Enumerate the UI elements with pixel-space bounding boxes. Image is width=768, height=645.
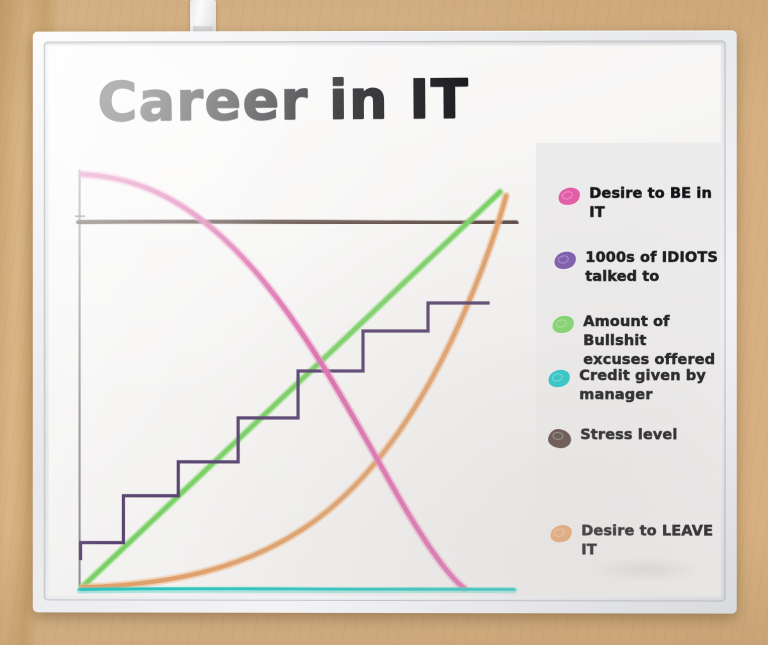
pink-dot-icon: [556, 185, 582, 207]
series-credit-given: [80, 588, 515, 591]
legend-label: 1000s of IDIOTS talked to: [585, 249, 718, 287]
brown-dot-icon: [547, 428, 572, 449]
legend-label: Desire to LEAVE IT: [581, 522, 720, 560]
purple-dot-icon: [552, 249, 578, 271]
whiteboard-frame: Career in IT: [33, 30, 737, 613]
legend-label: Stress level: [580, 426, 677, 445]
whiteboard-surface: Career in IT: [49, 45, 721, 596]
orange-dot-icon: [548, 523, 574, 545]
cyan-dot-icon: [546, 367, 572, 389]
series-desire-to-be: [82, 174, 464, 588]
green-dot-icon: [550, 313, 576, 335]
legend-label: Credit given by manager: [579, 367, 706, 405]
legend-label: Desire to BE in IT: [589, 185, 720, 223]
legend-item-desire-to-be[interactable]: Desire to BE in IT: [558, 185, 721, 223]
legend-item-bullshit-excuses[interactable]: Amount of Bullshit excuses offered: [552, 313, 721, 370]
screenshot-root: Career in IT: [0, 0, 768, 645]
series-idiots-talked-to: [81, 303, 488, 559]
series-bullshit-excuses: [82, 192, 500, 588]
series-stress-level: [79, 220, 517, 223]
legend-item-idiots-talked-to[interactable]: 1000s of IDIOTS talked to: [554, 249, 718, 287]
legend-item-stress-level[interactable]: Stress level: [548, 426, 677, 448]
legend-item-credit-given[interactable]: Credit given by manager: [548, 367, 706, 405]
legend-item-desire-to-leave[interactable]: Desire to LEAVE IT: [550, 522, 721, 560]
legend-label: Amount of Bullshit excuses offered: [583, 313, 720, 370]
legend-panel: Desire to BE in IT 1000s of IDIOTS talke…: [536, 143, 721, 554]
